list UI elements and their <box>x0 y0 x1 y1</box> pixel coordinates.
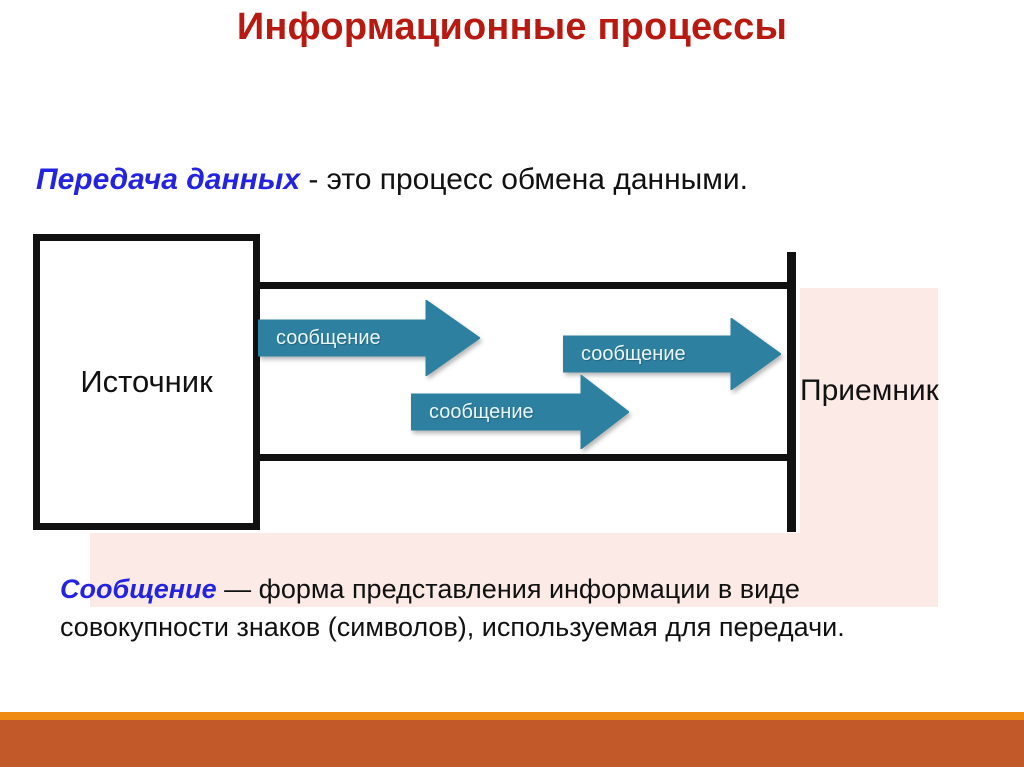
receiver-highlight-band <box>800 288 938 548</box>
footer-accent-thin <box>0 712 1024 720</box>
channel-rail-bottom <box>258 454 794 461</box>
message-arrow-1: сообщение <box>258 300 480 376</box>
definition-message-term: Сообщение <box>60 574 217 604</box>
definition-transfer-text: - это процесс обмена данными. <box>300 163 748 196</box>
slide-canvas: Информационные процессы Передача данных … <box>0 0 1024 767</box>
page-title: Информационные процессы <box>0 6 1024 49</box>
source-label: Источник <box>80 364 212 400</box>
channel-rail-top <box>258 282 794 289</box>
receiver-boundary-bar <box>787 252 796 532</box>
message-arrow-3-label: сообщение <box>411 402 534 422</box>
message-arrow-1-label: сообщение <box>258 328 381 348</box>
message-arrow-2-label: сообщение <box>563 344 686 364</box>
definition-message: Сообщение — форма представления информац… <box>60 570 970 647</box>
message-arrow-3: сообщение <box>411 375 629 449</box>
definition-transfer-term: Передача данных <box>36 163 300 196</box>
definition-transfer: Передача данных - это процесс обмена дан… <box>36 163 748 197</box>
receiver-label: Приемник <box>800 374 938 408</box>
footer-accent-thick <box>0 720 1024 767</box>
source-box: Источник <box>33 234 260 530</box>
